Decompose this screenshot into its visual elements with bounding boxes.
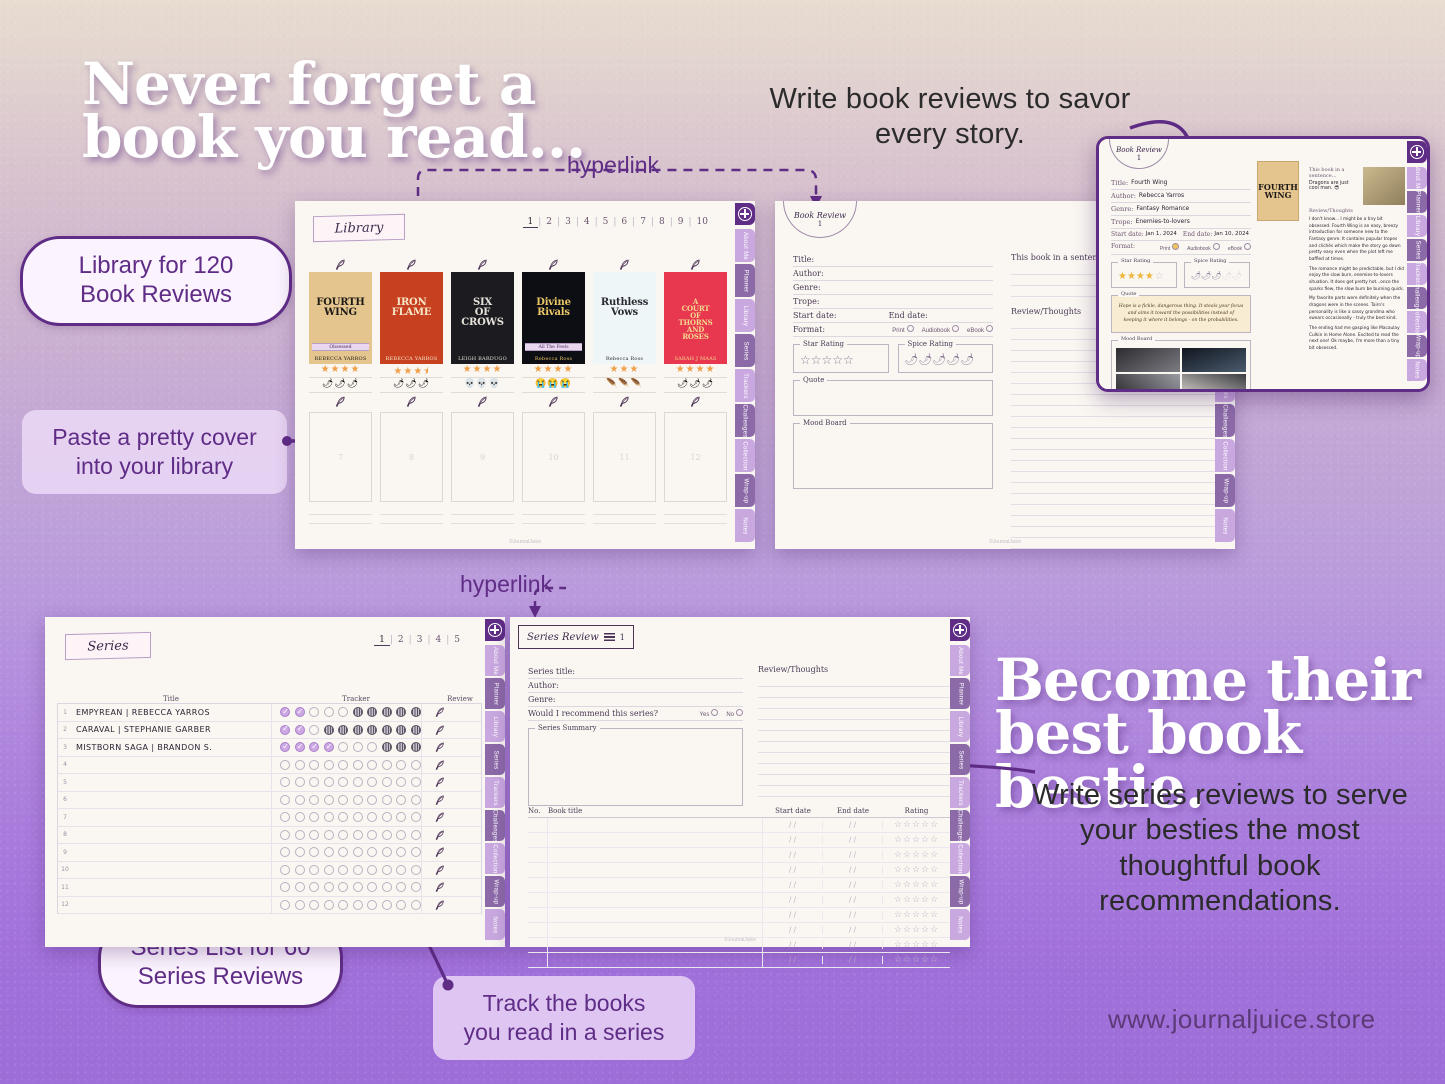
series-title[interactable] (72, 774, 272, 791)
tracker-dot[interactable] (396, 795, 406, 805)
tracker-dot[interactable] (295, 900, 305, 910)
cell-start-date[interactable]: / / (763, 851, 823, 859)
trope-field[interactable]: Trope: (793, 295, 993, 309)
page-num[interactable]: 5 (598, 217, 614, 228)
tracker-dot[interactable] (324, 725, 334, 735)
ruled-line[interactable] (758, 698, 950, 709)
page-num[interactable]: 9 (673, 217, 689, 228)
tracker-dots[interactable] (272, 882, 421, 892)
series-title[interactable]: CARAVAL | STEPHANIE GARBER (72, 722, 272, 739)
ruled-line[interactable] (1011, 406, 1216, 417)
tracker-dot[interactable] (338, 882, 348, 892)
tracker-dot[interactable] (411, 847, 421, 857)
format-field[interactable]: Format: Print Audiobook eBook (793, 323, 993, 337)
filled-tab[interactable]: Book Review 1 (1109, 139, 1169, 169)
cell-rating[interactable]: ☆☆☆☆☆ (883, 865, 950, 875)
review-link[interactable] (421, 774, 459, 791)
tracker-dot[interactable] (353, 865, 363, 875)
cell-book-title[interactable] (548, 863, 763, 877)
sidebar-tab-about-me[interactable]: About Me (1407, 167, 1427, 189)
series-page-numbers[interactable]: 1| 2| 3| 4| 5 (374, 635, 465, 646)
tracker-dot[interactable] (309, 707, 319, 717)
filled-genre[interactable]: Genre: Fantasy Romance (1111, 203, 1251, 216)
recommend-yes[interactable]: Yes (700, 709, 719, 718)
quote-box[interactable]: Quote (793, 380, 993, 416)
series-title[interactable]: EMPYREAN | REBECCA YARROS (72, 704, 272, 721)
page-num[interactable]: 8 (654, 217, 670, 228)
series-title[interactable] (72, 897, 272, 914)
tracker-dot[interactable] (338, 707, 348, 717)
table-row[interactable]: / // /☆☆☆☆☆ (528, 908, 950, 923)
format-option-audiobook[interactable]: Audiobook (922, 325, 959, 334)
tracker-dot[interactable] (382, 795, 392, 805)
cell-no[interactable] (528, 923, 548, 937)
tracker-dot[interactable] (396, 725, 406, 735)
tracker-dot[interactable] (353, 900, 363, 910)
tracker-dots[interactable] (272, 725, 421, 735)
ruled-line[interactable] (1011, 505, 1216, 516)
tracker-dot[interactable] (396, 777, 406, 787)
book-cover[interactable]: SIXOFCROWSLEIGH BARDUGO (451, 272, 514, 364)
note-lines[interactable] (451, 506, 514, 524)
tracker-dot[interactable] (309, 812, 319, 822)
quill-icon[interactable] (309, 256, 372, 272)
tracker-dot[interactable] (382, 742, 392, 752)
series-title[interactable] (72, 827, 272, 844)
tracker-dots[interactable] (272, 812, 421, 822)
tracker-dot[interactable] (324, 865, 334, 875)
tracker-dot[interactable] (367, 882, 377, 892)
ruled-line[interactable] (1011, 516, 1216, 527)
ruled-line[interactable] (758, 720, 950, 731)
tracker-dots[interactable] (272, 865, 421, 875)
sidebar-tab-collection[interactable]: Collection (485, 843, 505, 874)
tracker-dot[interactable] (295, 865, 305, 875)
sidebar-tab-wrap-up[interactable]: Wrap-up (735, 474, 755, 507)
page-num[interactable]: 2 (541, 217, 557, 228)
sidebar-tab-library[interactable]: Library (1407, 215, 1427, 237)
cell-no[interactable] (528, 878, 548, 892)
recommend-field[interactable]: Would I recommend this series? Yes No (528, 707, 743, 721)
sidebar-tab-notes[interactable]: Notes (735, 509, 755, 542)
book-cover[interactable]: ACOURTOFTHORNSANDROSESSARAH J MAAS (664, 272, 727, 364)
review-link[interactable] (421, 844, 459, 861)
table-row[interactable]: 3MISTBORN SAGA | BRANDON S. (58, 739, 481, 757)
review-link[interactable] (421, 827, 459, 844)
tracker-dots[interactable] (272, 847, 421, 857)
tracker-dot[interactable] (295, 777, 305, 787)
library-page[interactable]: Library 1| 2| 3| 4| 5| 6| 7| 8| 9| 10 FO… (295, 201, 755, 549)
cell-rating[interactable]: ☆☆☆☆☆ (883, 910, 950, 920)
sidebar-tab-notes[interactable]: Notes (1215, 509, 1235, 542)
filled-trope[interactable]: Trope: Enemies-to-lovers (1111, 216, 1251, 229)
tracker-dot[interactable] (411, 777, 421, 787)
quill-icon[interactable] (522, 256, 585, 272)
tracker-dots[interactable] (272, 777, 421, 787)
review-link[interactable] (421, 739, 459, 756)
tab-rail[interactable]: About MePlannerLibrarySeriesTrackersChal… (1405, 139, 1427, 389)
table-row[interactable]: / // /☆☆☆☆☆ (528, 923, 950, 938)
sidebar-tab-library[interactable]: Library (950, 711, 970, 742)
book-cover[interactable]: FOURTHWINGObsessedREBECCA YARROS (309, 272, 372, 364)
review-link[interactable] (421, 897, 459, 914)
tracker-dot[interactable] (280, 760, 290, 770)
page-num[interactable]: 3 (560, 217, 576, 228)
cell-end-date[interactable]: / / (823, 851, 883, 859)
ruled-line[interactable] (758, 731, 950, 742)
cell-end-date[interactable]: / / (823, 866, 883, 874)
tracker-dot[interactable] (411, 900, 421, 910)
tab-rail[interactable]: About MePlannerLibrarySeriesTrackersChal… (948, 617, 970, 947)
tracker-dot[interactable] (309, 742, 319, 752)
tracker-dot[interactable] (280, 812, 290, 822)
cell-book-title[interactable] (548, 893, 763, 907)
table-row[interactable]: / // /☆☆☆☆☆ (528, 953, 950, 968)
tracker-dot[interactable] (411, 812, 421, 822)
book-cell[interactable]: IRONFLAMEREBECCA YARROS★★★⯨🌶🌶🌶8 (380, 256, 443, 524)
cell-rating[interactable]: ☆☆☆☆☆ (883, 820, 950, 830)
sidebar-tab-wrap-up[interactable]: Wrap-up (950, 876, 970, 907)
series-review-lines[interactable] (758, 676, 950, 797)
book-cell[interactable]: SIXOFCROWSLEIGH BARDUGO★★★★💀💀💀9 (451, 256, 514, 524)
tracker-dot[interactable] (382, 882, 392, 892)
tracker-dot[interactable] (280, 742, 290, 752)
sidebar-tab-notes[interactable]: Notes (485, 909, 505, 940)
page-num[interactable]: 1 (374, 635, 390, 646)
tracker-dot[interactable] (353, 777, 363, 787)
series-review-page[interactable]: Series Review 1 Series title: Author: Ge… (510, 617, 970, 947)
sidebar-tab-planner[interactable]: Planner (735, 264, 755, 297)
sidebar-tab-challenges[interactable]: Challenges (735, 404, 755, 437)
sidebar-tab-planner[interactable]: Planner (950, 678, 970, 709)
ruled-line[interactable] (1011, 461, 1216, 472)
spice-rating[interactable]: 🌶🌶🌶 (664, 378, 727, 393)
cell-end-date[interactable]: / / (823, 911, 883, 919)
star-rating-stars[interactable]: ☆☆☆☆☆ (800, 353, 882, 367)
sidebar-tab-challenges[interactable]: Challenges (485, 810, 505, 841)
book-cell[interactable]: DivineRivalsAll The FeelsRebecca Ross★★★… (522, 256, 585, 524)
series-title[interactable] (72, 879, 272, 896)
table-row[interactable]: 8 (58, 827, 481, 845)
page-num[interactable]: 1 (523, 217, 539, 228)
cell-start-date[interactable]: / / (763, 926, 823, 934)
tracker-dot[interactable] (396, 812, 406, 822)
spice-rating[interactable]: 💀💀💀 (451, 378, 514, 393)
cell-end-date[interactable]: / / (823, 836, 883, 844)
tracker-dot[interactable] (309, 847, 319, 857)
cell-end-date[interactable]: / / (823, 956, 883, 964)
tracker-dot[interactable] (382, 847, 392, 857)
tracker-dot[interactable] (324, 830, 334, 840)
tracker-dot[interactable] (353, 812, 363, 822)
tracker-dot[interactable] (367, 812, 377, 822)
cell-rating[interactable]: ☆☆☆☆☆ (883, 925, 950, 935)
tracker-dot[interactable] (295, 812, 305, 822)
home-tab[interactable] (735, 203, 755, 225)
series-genre-field[interactable]: Genre: (528, 693, 743, 707)
tracker-dot[interactable] (309, 830, 319, 840)
filled-star-rating[interactable]: Star Rating ★★★★☆ (1111, 262, 1177, 288)
page-num[interactable]: 2 (393, 635, 409, 646)
cell-end-date[interactable]: / / (823, 821, 883, 829)
empty-cover-slot[interactable]: 9 (451, 412, 514, 502)
ruled-line[interactable] (758, 742, 950, 753)
cell-end-date[interactable]: / / (823, 926, 883, 934)
filled-spice-rating[interactable]: Spice Rating 🌶🌶🌶🌶🌶 (1184, 262, 1250, 288)
tab-rail[interactable]: About MePlannerLibrarySeriesTrackersChal… (733, 201, 755, 549)
cell-rating[interactable]: ☆☆☆☆☆ (883, 895, 950, 905)
ruled-line[interactable] (758, 687, 950, 698)
tracker-dot[interactable] (338, 795, 348, 805)
table-row[interactable]: / // /☆☆☆☆☆ (528, 893, 950, 908)
filled-author[interactable]: Author: Rebecca Yarros (1111, 190, 1251, 203)
ruled-line[interactable] (758, 775, 950, 786)
quill-icon[interactable] (380, 393, 443, 409)
tracker-dot[interactable] (338, 865, 348, 875)
tracker-dot[interactable] (280, 725, 290, 735)
filled-quote[interactable]: Quote Hope is a fickle, dangerous thing.… (1111, 295, 1251, 333)
ruled-line[interactable] (758, 753, 950, 764)
cell-book-title[interactable] (548, 848, 763, 862)
ruled-line[interactable] (1011, 472, 1216, 483)
ruled-line[interactable] (1011, 450, 1216, 461)
cell-no[interactable] (528, 863, 548, 877)
tracker-dot[interactable] (338, 725, 348, 735)
ruled-line[interactable] (758, 764, 950, 775)
library-page-numbers[interactable]: 1| 2| 3| 4| 5| 6| 7| 8| 9| 10 (523, 217, 713, 228)
cell-end-date[interactable]: / / (823, 896, 883, 904)
note-lines[interactable] (593, 506, 656, 524)
sidebar-tab-library[interactable]: Library (485, 711, 505, 742)
page-num[interactable]: 7 (635, 217, 651, 228)
tracker-dot[interactable] (411, 707, 421, 717)
tracker-dot[interactable] (324, 760, 334, 770)
star-rating[interactable]: ★★★★ (309, 364, 372, 378)
book-cell[interactable]: ACOURTOFTHORNSANDROSESSARAH J MAAS★★★★🌶🌶… (664, 256, 727, 524)
site-url[interactable]: www.journaljuice.store (1108, 1004, 1375, 1035)
tracker-dot[interactable] (324, 900, 334, 910)
sidebar-tab-library[interactable]: Library (735, 299, 755, 332)
tracker-dots[interactable] (272, 900, 421, 910)
tracker-dot[interactable] (338, 742, 348, 752)
format-option-print[interactable]: Print (892, 325, 913, 334)
cell-no[interactable] (528, 893, 548, 907)
sidebar-tab-planner[interactable]: Planner (1407, 191, 1427, 213)
tracker-dot[interactable] (295, 760, 305, 770)
tracker-dot[interactable] (382, 725, 392, 735)
table-row[interactable]: / // /☆☆☆☆☆ (528, 863, 950, 878)
review-link[interactable] (421, 879, 459, 896)
ruled-line[interactable] (1011, 417, 1216, 428)
tracker-dot[interactable] (338, 847, 348, 857)
review-link[interactable] (421, 862, 459, 879)
series-title[interactable] (72, 844, 272, 861)
tracker-dot[interactable] (382, 777, 392, 787)
tracker-dot[interactable] (382, 760, 392, 770)
tracker-dot[interactable] (309, 882, 319, 892)
tracker-dot[interactable] (295, 795, 305, 805)
book-review-filled-card[interactable]: Book Review 1 Title: Fourth Wing Author:… (1096, 136, 1430, 392)
cell-rating[interactable]: ☆☆☆☆☆ (883, 880, 950, 890)
quill-icon[interactable] (309, 393, 372, 409)
sidebar-tab-collection[interactable]: Collection (1215, 439, 1235, 472)
quill-icon[interactable] (522, 393, 585, 409)
quill-icon[interactable] (664, 256, 727, 272)
note-lines[interactable] (522, 506, 585, 524)
tracker-dot[interactable] (411, 725, 421, 735)
cell-rating[interactable]: ☆☆☆☆☆ (883, 955, 950, 965)
tracker-dot[interactable] (324, 742, 334, 752)
tracker-dot[interactable] (411, 742, 421, 752)
ruled-line[interactable] (1011, 439, 1216, 450)
series-title[interactable] (72, 757, 272, 774)
empty-cover-slot[interactable]: 11 (593, 412, 656, 502)
cell-book-title[interactable] (548, 908, 763, 922)
tracker-dot[interactable] (396, 865, 406, 875)
cell-book-title[interactable] (548, 923, 763, 937)
ruled-line[interactable] (1011, 395, 1216, 406)
cell-book-title[interactable] (548, 878, 763, 892)
quill-icon[interactable] (664, 393, 727, 409)
ruled-line[interactable] (758, 676, 950, 687)
home-tab[interactable] (485, 619, 505, 641)
series-summary-box[interactable]: Series Summary (528, 728, 743, 806)
sidebar-tab-planner[interactable]: Planner (485, 678, 505, 709)
table-row[interactable]: 12 (58, 897, 481, 915)
tracker-dot[interactable] (324, 777, 334, 787)
tracker-dot[interactable] (280, 847, 290, 857)
tracker-dot[interactable] (411, 882, 421, 892)
quill-icon[interactable] (451, 393, 514, 409)
tracker-dot[interactable] (280, 795, 290, 805)
review-link[interactable] (421, 792, 459, 809)
tracker-dot[interactable] (353, 760, 363, 770)
review-link[interactable] (421, 722, 459, 739)
tracker-dot[interactable] (367, 777, 377, 787)
book-cover[interactable]: IRONFLAMEREBECCA YARROS (380, 272, 443, 364)
sidebar-tab-trackers[interactable]: Trackers (1407, 263, 1427, 285)
page-num[interactable]: 3 (412, 635, 428, 646)
star-rating[interactable]: ★★★★ (451, 364, 514, 378)
filled-format[interactable]: Format: Print Audiobook eBook (1111, 241, 1251, 255)
empty-cover-slot[interactable]: 10 (522, 412, 585, 502)
series-review-tab[interactable]: Series Review 1 (518, 625, 634, 649)
author-field[interactable]: Author: (793, 267, 993, 281)
tracker-dot[interactable] (324, 812, 334, 822)
tracker-dot[interactable] (353, 830, 363, 840)
home-tab[interactable] (1407, 141, 1427, 163)
tracker-dot[interactable] (396, 882, 406, 892)
empty-cover-slot[interactable]: 8 (380, 412, 443, 502)
home-tab[interactable] (950, 619, 970, 641)
filled-format-print[interactable]: Print (1160, 243, 1179, 252)
tracker-dot[interactable] (353, 882, 363, 892)
star-rating[interactable]: ★★★⯨ (380, 364, 443, 378)
tracker-dot[interactable] (280, 882, 290, 892)
sidebar-tab-collection[interactable]: Collection (950, 843, 970, 874)
ruled-line[interactable] (1011, 483, 1216, 494)
sidebar-tab-notes[interactable]: Notes (950, 909, 970, 940)
table-row[interactable]: 5 (58, 774, 481, 792)
note-lines[interactable] (664, 506, 727, 524)
tracker-dot[interactable] (396, 742, 406, 752)
spice-rating[interactable]: 🌶🌶🌶 (380, 378, 443, 393)
tracker-dot[interactable] (367, 742, 377, 752)
book-cell[interactable]: FOURTHWINGObsessedREBECCA YARROS★★★★🌶🌶🌶7 (309, 256, 372, 524)
tracker-dot[interactable] (367, 847, 377, 857)
sidebar-tab-series[interactable]: Series (950, 744, 970, 775)
sidebar-tab-challenges[interactable]: Challenges (1407, 287, 1427, 309)
tracker-dot[interactable] (353, 742, 363, 752)
sidebar-tab-trackers[interactable]: Trackers (735, 369, 755, 402)
tracker-dot[interactable] (411, 795, 421, 805)
tracker-dot[interactable] (324, 795, 334, 805)
tracker-dot[interactable] (295, 707, 305, 717)
tracker-dot[interactable] (396, 830, 406, 840)
tracker-dot[interactable] (382, 900, 392, 910)
book-cell[interactable]: RuthlessVowsRebecca Ross★★★🪶🪶🪶11 (593, 256, 656, 524)
sidebar-tab-about-me[interactable]: About Me (950, 645, 970, 676)
tracker-dots[interactable] (272, 707, 421, 717)
tracker-dot[interactable] (353, 847, 363, 857)
cell-no[interactable] (528, 818, 548, 832)
format-option-ebook[interactable]: eBook (967, 325, 993, 334)
tracker-dot[interactable] (338, 777, 348, 787)
tracker-dot[interactable] (280, 900, 290, 910)
table-row[interactable]: 6 (58, 792, 481, 810)
filled-dates[interactable]: Start date: Jan 1, 2024 End date: Jan 10… (1111, 229, 1251, 241)
tracker-dot[interactable] (309, 760, 319, 770)
tracker-dot[interactable] (295, 830, 305, 840)
spice-rating[interactable]: 😭😭😭 (522, 378, 585, 393)
cell-no[interactable] (528, 848, 548, 862)
ruled-line[interactable] (1011, 494, 1216, 505)
page-num[interactable]: 4 (430, 635, 446, 646)
cell-rating[interactable]: ☆☆☆☆☆ (883, 850, 950, 860)
sidebar-tab-collection[interactable]: Collection (735, 439, 755, 472)
tracker-dot[interactable] (295, 725, 305, 735)
star-rating[interactable]: ★★★★ (522, 364, 585, 378)
tracker-dot[interactable] (367, 760, 377, 770)
filled-format-ebook[interactable]: eBook (1228, 243, 1251, 252)
tracker-dot[interactable] (411, 760, 421, 770)
star-rating[interactable]: ★★★ (593, 364, 656, 378)
tracker-dot[interactable] (353, 795, 363, 805)
tracker-dot[interactable] (309, 865, 319, 875)
tracker-dot[interactable] (295, 742, 305, 752)
tracker-dots[interactable] (272, 760, 421, 770)
ruled-line[interactable] (1011, 527, 1216, 538)
tracker-dot[interactable] (396, 900, 406, 910)
series-author-field[interactable]: Author: (528, 679, 743, 693)
cell-no[interactable] (528, 833, 548, 847)
tracker-dot[interactable] (280, 830, 290, 840)
filled-title[interactable]: Title: Fourth Wing (1111, 177, 1251, 190)
cell-book-title[interactable] (548, 833, 763, 847)
quill-icon[interactable] (451, 256, 514, 272)
table-row[interactable]: 1EMPYREAN | REBECCA YARROS (58, 704, 481, 722)
cell-rating[interactable]: ☆☆☆☆☆ (883, 835, 950, 845)
tracker-dot[interactable] (411, 865, 421, 875)
tab-rail[interactable]: About MePlannerLibrarySeriesTrackersChal… (483, 617, 505, 947)
cell-start-date[interactable]: / / (763, 956, 823, 964)
series-title[interactable] (72, 809, 272, 826)
spice-rating[interactable]: 🪶🪶🪶 (593, 378, 656, 393)
page-num[interactable]: 5 (449, 635, 465, 646)
tracker-dot[interactable] (411, 830, 421, 840)
table-row[interactable]: / // /☆☆☆☆☆ (528, 833, 950, 848)
tracker-dot[interactable] (295, 847, 305, 857)
